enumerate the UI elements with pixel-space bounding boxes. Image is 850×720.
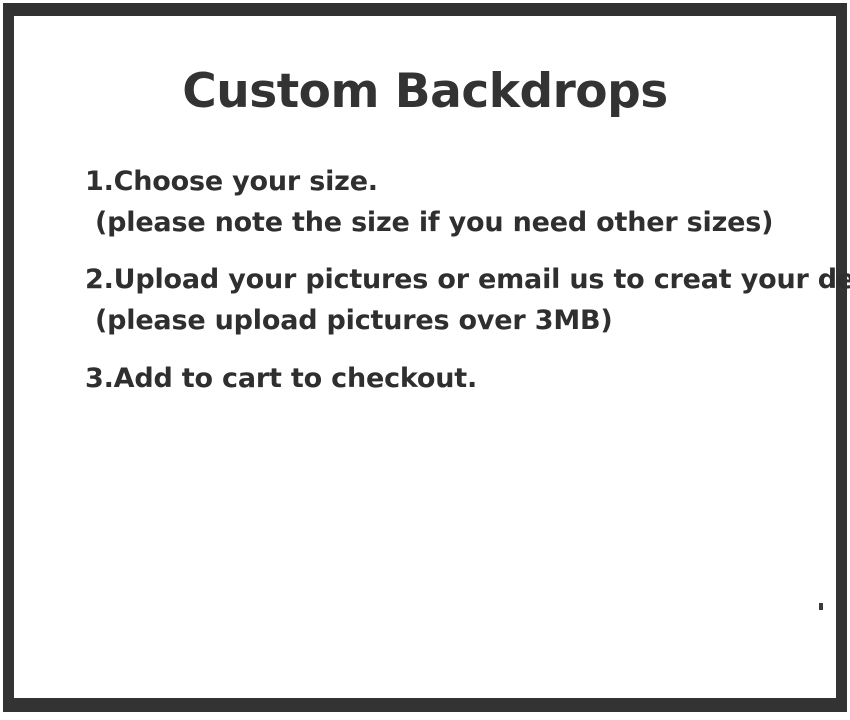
list-item: 1.Choose your size. (please note the siz… [14, 164, 836, 240]
bordered-card: Custom Backdrops 1.Choose your size. (pl… [3, 3, 847, 712]
page-canvas: Custom Backdrops 1.Choose your size. (pl… [0, 0, 850, 720]
list-item: 3.Add to cart to checkout. [14, 361, 836, 397]
step-1-text: 1.Choose your size. [14, 164, 836, 200]
card-body: Custom Backdrops 1.Choose your size. (pl… [14, 16, 836, 698]
instruction-list: 1.Choose your size. (please note the siz… [14, 164, 836, 418]
list-item: 2.Upload your pictures or email us to cr… [14, 262, 836, 338]
step-2-note: (please upload pictures over 3MB) [14, 303, 836, 339]
step-2-text: 2.Upload your pictures or email us to cr… [14, 262, 836, 298]
page-title: Custom Backdrops [14, 66, 836, 118]
step-1-note: (please note the size if you need other … [14, 205, 836, 241]
step-3-text: 3.Add to cart to checkout. [14, 361, 836, 397]
speck-mark [819, 603, 823, 610]
